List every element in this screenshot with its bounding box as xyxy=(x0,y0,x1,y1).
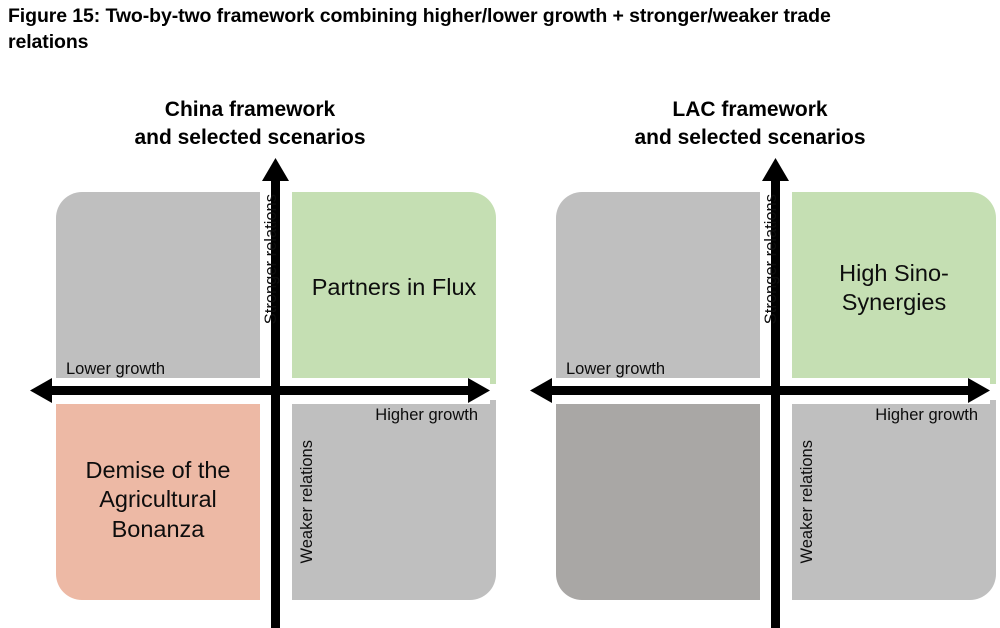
lac-quadrant-top-right: High Sino-Synergies xyxy=(792,192,996,384)
lac-quadrant-bottom-left xyxy=(556,400,760,600)
china-quadrant-bottom-left: Demise of the Agricultural Bonanza xyxy=(56,400,260,600)
china-label-weaker-relations: Weaker relations xyxy=(298,440,317,564)
lac-quadrant-top-left xyxy=(556,192,760,384)
lac-label-higher-growth: Higher growth xyxy=(875,406,978,425)
china-quadrant-top-left xyxy=(56,192,260,384)
panel-lac-title-line2: and selected scenarios xyxy=(634,126,865,149)
panel-china-title: China framework and selected scenarios xyxy=(10,96,490,152)
figure-title: Figure 15: Two-by-two framework combinin… xyxy=(8,4,908,55)
panel-lac-title: LAC framework and selected scenarios xyxy=(510,96,990,152)
china-label-lower-growth: Lower growth xyxy=(66,360,165,379)
panel-china-framework: China framework and selected scenarios P… xyxy=(10,96,490,628)
lac-label-weaker-relations: Weaker relations xyxy=(798,440,817,564)
china-quadrant-top-right: Partners in Flux xyxy=(292,192,496,384)
lac-quadrant-bottom-right xyxy=(792,400,996,600)
china-label-higher-growth: Higher growth xyxy=(375,406,478,425)
china-quadrant-plot: Partners in Flux Demise of the Agricultu… xyxy=(30,164,490,628)
lac-label-lower-growth: Lower growth xyxy=(566,360,665,379)
lac-quadrant-plot: High Sino-Synergies Lower growth Higher … xyxy=(530,164,990,628)
lac-label-stronger-relations: Stronger relations xyxy=(762,194,781,324)
china-quadrant-bottom-right xyxy=(292,400,496,600)
panel-lac-title-line1: LAC framework xyxy=(672,98,827,121)
panel-lac-framework: LAC framework and selected scenarios Hig… xyxy=(510,96,990,628)
panel-china-title-line1: China framework xyxy=(165,98,335,121)
panel-china-title-line2: and selected scenarios xyxy=(134,126,365,149)
china-label-stronger-relations: Stronger relations xyxy=(262,194,281,324)
